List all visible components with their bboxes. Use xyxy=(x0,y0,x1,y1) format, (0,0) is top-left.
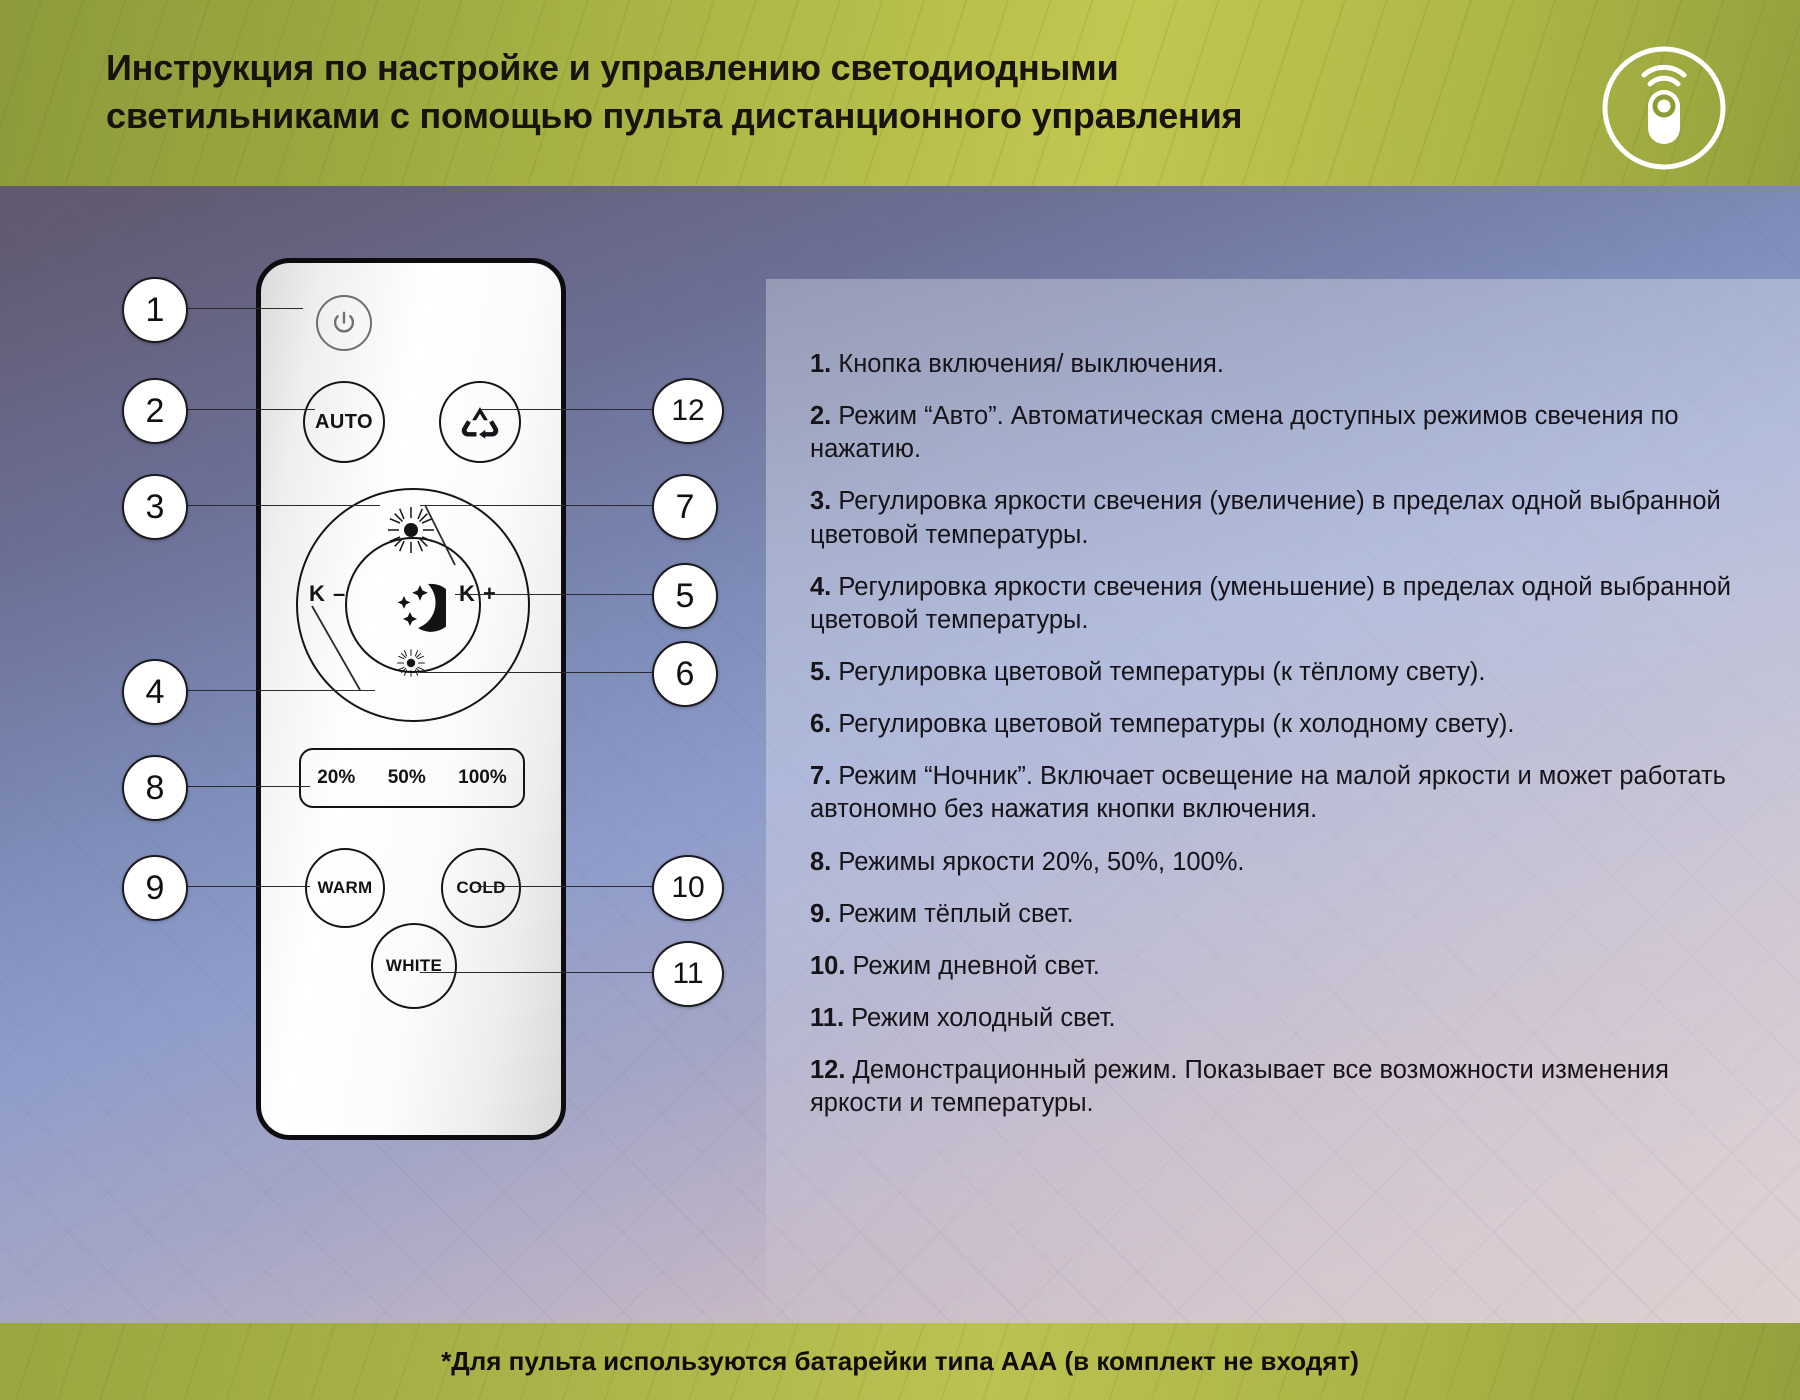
step-number: 11. xyxy=(810,1004,844,1032)
list-item: 9. Режим тёплый свет. xyxy=(810,898,1750,931)
callout-4[interactable]: 4 xyxy=(122,659,188,725)
callout-1[interactable]: 1 xyxy=(122,277,188,343)
warm-light-button[interactable]: WARM xyxy=(305,848,385,928)
callout-number: 3 xyxy=(146,488,165,527)
callout-10[interactable]: 10 xyxy=(652,855,724,921)
step-number: 9. xyxy=(810,900,831,928)
callout-number: 12 xyxy=(671,394,704,428)
list-item: 10. Режим дневной свет. xyxy=(810,950,1750,983)
brightness-20-label[interactable]: 20% xyxy=(317,767,355,789)
leader-line-1 xyxy=(185,308,303,309)
callout-number: 9 xyxy=(146,869,165,908)
callout-9[interactable]: 9 xyxy=(122,855,188,921)
list-item: 7. Режим “Ночник”. Включает освещение на… xyxy=(810,760,1750,826)
list-item: 4. Регулировка яркости свечения (уменьше… xyxy=(810,571,1750,637)
callout-2[interactable]: 2 xyxy=(122,378,188,444)
step-number: 10. xyxy=(810,952,845,980)
page-title: Инструкция по настройке и управлению све… xyxy=(106,44,1366,140)
callout-number: 10 xyxy=(671,871,704,905)
leader-line-angled-group xyxy=(250,480,530,700)
callout-number: 4 xyxy=(146,673,165,712)
step-text: Режим “Ночник”. Включает освещение на ма… xyxy=(810,762,1726,823)
white-light-button[interactable]: WHITE xyxy=(371,923,457,1009)
step-number: 2. xyxy=(810,402,831,430)
step-text: Демонстрационный режим. Показывает все в… xyxy=(810,1056,1669,1117)
callout-7[interactable]: 7 xyxy=(652,474,718,540)
footer-note: *Для пульта используются батарейки типа … xyxy=(0,1323,1800,1400)
power-icon xyxy=(330,309,358,337)
callout-number: 2 xyxy=(146,392,165,431)
page-title-line1: Инструкция по настройке и управлению све… xyxy=(106,47,1119,88)
step-number: 5. xyxy=(810,658,831,686)
step-number: 12. xyxy=(810,1056,845,1084)
list-item: 1. Кнопка включения/ выключения. xyxy=(810,348,1750,381)
warm-label: WARM xyxy=(317,878,372,898)
list-item: 2. Режим “Авто”. Автоматическая смена до… xyxy=(810,400,1750,466)
list-item: 3. Регулировка яркости свечения (увеличе… xyxy=(810,485,1750,551)
leader-line-12 xyxy=(480,409,655,410)
cold-light-button[interactable]: COLD xyxy=(441,848,521,928)
step-text: Режим дневной свет. xyxy=(853,952,1100,980)
step-text: Регулировка цветовой температуры (к холо… xyxy=(838,710,1514,738)
step-text: Режим “Авто”. Автоматическая смена досту… xyxy=(810,402,1679,463)
step-number: 4. xyxy=(810,573,831,601)
list-item: 12. Демонстрационный режим. Показывает в… xyxy=(810,1054,1750,1120)
step-text: Режим тёплый свет. xyxy=(838,900,1073,928)
callout-6[interactable]: 6 xyxy=(652,641,718,707)
list-item: 6. Регулировка цветовой температуры (к х… xyxy=(810,708,1750,741)
power-button[interactable] xyxy=(316,295,372,351)
step-text: Регулировка яркости свечения (уменьшение… xyxy=(810,573,1731,634)
step-number: 7. xyxy=(810,762,831,790)
callout-number: 8 xyxy=(146,769,165,808)
step-text: Кнопка включения/ выключения. xyxy=(838,350,1224,378)
callout-number: 5 xyxy=(676,577,695,616)
step-number: 1. xyxy=(810,350,831,378)
step-text: Режимы яркости 20%, 50%, 100%. xyxy=(838,848,1244,876)
callout-11[interactable]: 11 xyxy=(652,941,724,1007)
callout-number: 11 xyxy=(672,957,703,991)
remote-signal-icon xyxy=(1600,44,1728,172)
callout-3[interactable]: 3 xyxy=(122,474,188,540)
white-label: WHITE xyxy=(386,956,442,976)
demo-mode-button[interactable] xyxy=(439,381,521,463)
footer-band: *Для пульта используются батарейки типа … xyxy=(0,1323,1800,1400)
leader-line-2 xyxy=(185,409,315,410)
step-number: 8. xyxy=(810,848,831,876)
auto-mode-button[interactable]: AUTO xyxy=(303,381,385,463)
callout-number: 6 xyxy=(676,655,695,694)
callout-12[interactable]: 12 xyxy=(652,378,724,444)
brightness-preset-bar[interactable]: 20% 50% 100% xyxy=(299,748,525,808)
leader-line-11 xyxy=(420,972,656,973)
step-text: Регулировка цветовой температуры (к тёпл… xyxy=(838,658,1485,686)
callout-number: 1 xyxy=(146,291,165,330)
brightness-50-label[interactable]: 50% xyxy=(388,767,426,789)
header-band: Инструкция по настройке и управлению све… xyxy=(0,0,1800,186)
callout-8[interactable]: 8 xyxy=(122,755,188,821)
leader-line-10 xyxy=(478,886,656,887)
step-number: 6. xyxy=(810,710,831,738)
recycle-icon xyxy=(459,401,501,443)
list-item: 5. Регулировка цветовой температуры (к т… xyxy=(810,656,1750,689)
page-title-line2: светильниками с помощью пульта дистанцио… xyxy=(106,92,1366,140)
leader-line-8 xyxy=(185,786,310,787)
step-text: Регулировка яркости свечения (увеличение… xyxy=(810,487,1721,548)
step-text: Режим холодный свет. xyxy=(851,1004,1115,1032)
step-number: 3. xyxy=(810,487,831,515)
list-item: 8. Режимы яркости 20%, 50%, 100%. xyxy=(810,846,1750,879)
auto-label: AUTO xyxy=(315,411,373,434)
leader-line-9 xyxy=(185,886,310,887)
steps-list: 1. Кнопка включения/ выключения. 2. Режи… xyxy=(810,348,1780,1139)
cold-label: COLD xyxy=(456,878,505,898)
callout-5[interactable]: 5 xyxy=(652,563,718,629)
brightness-100-label[interactable]: 100% xyxy=(458,767,507,789)
infographic-page: Инструкция по настройке и управлению све… xyxy=(0,0,1800,1400)
list-item: 11. Режим холодный свет. xyxy=(810,1002,1750,1035)
callout-number: 7 xyxy=(676,488,695,527)
